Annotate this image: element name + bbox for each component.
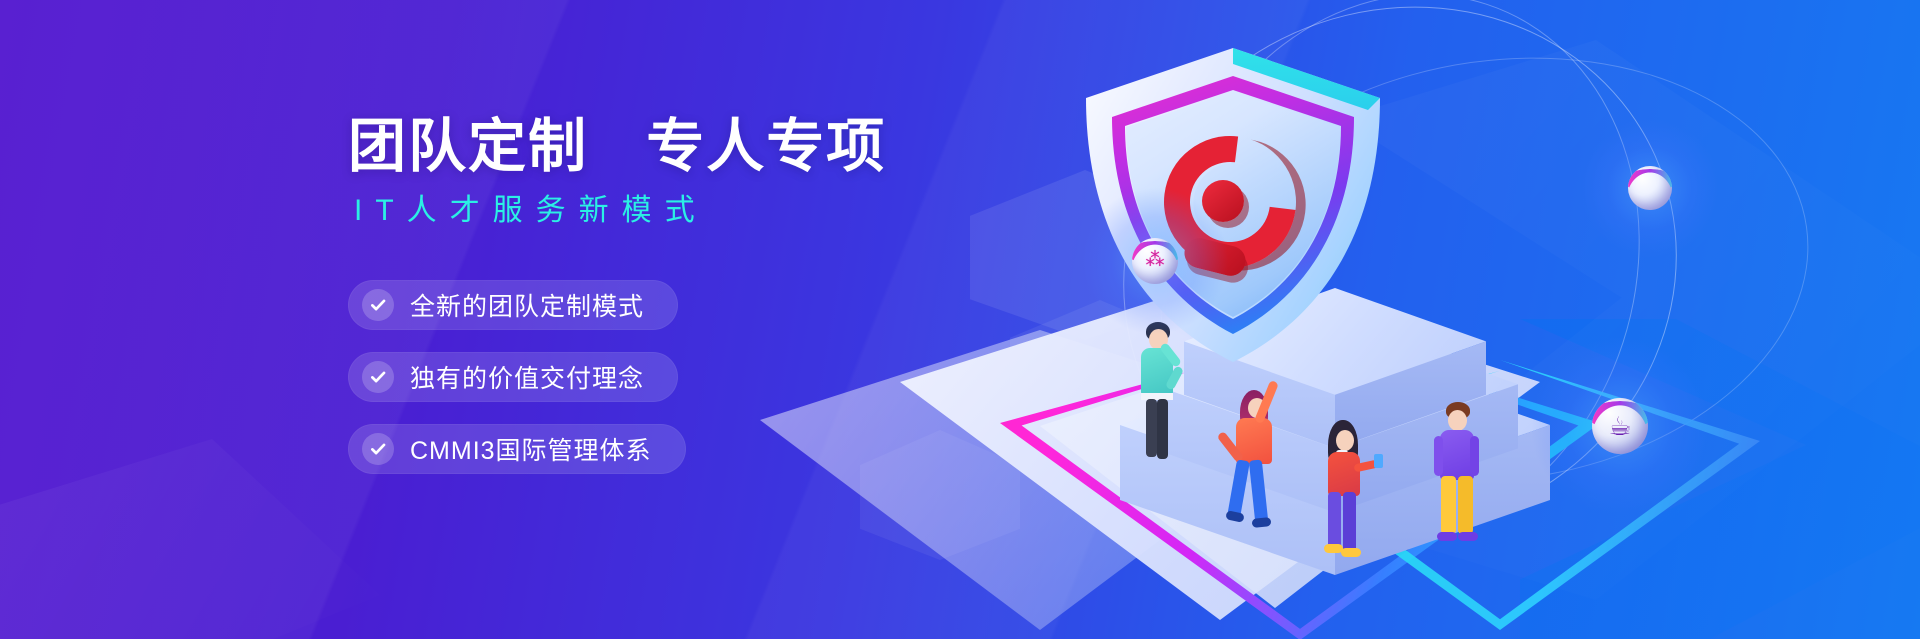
- feature-pill-3[interactable]: CMMI3国际管理体系: [348, 424, 686, 474]
- arm: [1434, 436, 1443, 476]
- person-red-top-phone: [1316, 418, 1386, 568]
- hero-content: 团队定制 专人专项 IT人才服务新模式 全新的团队定制模式: [0, 0, 900, 639]
- leg: [1157, 399, 1168, 459]
- feature-pill-label: CMMI3国际管理体系: [410, 431, 652, 467]
- feature-pill-label: 全新的团队定制模式: [410, 287, 644, 323]
- leg: [1227, 459, 1250, 518]
- head: [1448, 410, 1467, 431]
- check-icon: [362, 361, 394, 393]
- shoe: [1341, 548, 1361, 557]
- page-title: 团队定制 专人专项: [348, 118, 900, 176]
- sphere-body: [1628, 166, 1672, 210]
- chip-icon: ⁂: [1146, 251, 1165, 270]
- leg: [1458, 476, 1473, 534]
- feature-list: 全新的团队定制模式 独有的价值交付理念 CMMI3国际管理体系: [348, 280, 900, 474]
- shoe: [1225, 510, 1244, 523]
- phone-icon: [1374, 454, 1383, 468]
- person-orange-top: [1224, 386, 1300, 536]
- leg: [1249, 459, 1268, 522]
- feature-pill-2[interactable]: 独有的价值交付理念: [348, 352, 678, 402]
- leg: [1441, 476, 1456, 534]
- check-icon: [362, 433, 394, 465]
- headline-part-2: 专人专项: [646, 114, 886, 179]
- torso: [1440, 430, 1474, 480]
- chip-sphere: ⁂: [1132, 238, 1178, 284]
- leg: [1328, 492, 1341, 548]
- java-icon: ☕: [1608, 413, 1631, 439]
- arm: [1470, 436, 1479, 476]
- headline-part-1: 团队定制: [348, 114, 588, 179]
- shoe: [1458, 532, 1478, 541]
- java-sphere: ☕: [1592, 398, 1648, 454]
- leg: [1343, 492, 1356, 552]
- feature-pill-label: 独有的价值交付理念: [410, 359, 644, 395]
- torso: [1328, 452, 1360, 496]
- page-subtitle: IT人才服务新模式: [348, 196, 900, 226]
- feature-pill-1[interactable]: 全新的团队定制模式: [348, 280, 678, 330]
- plain-sphere: [1628, 166, 1672, 210]
- person-purple-top: [1428, 402, 1494, 552]
- leg: [1146, 399, 1157, 457]
- hero-banner: ⁂ ☕ 团队定制 专人专项 IT人才服务新模式 全新的团队定制模式: [0, 0, 1920, 639]
- isometric-illustration: [880, 30, 1880, 620]
- shoe: [1437, 532, 1457, 541]
- head: [1336, 430, 1354, 451]
- belt: [1141, 393, 1173, 400]
- shoe: [1252, 517, 1272, 528]
- check-icon: [362, 289, 394, 321]
- person-teal-shirt: [1128, 322, 1188, 462]
